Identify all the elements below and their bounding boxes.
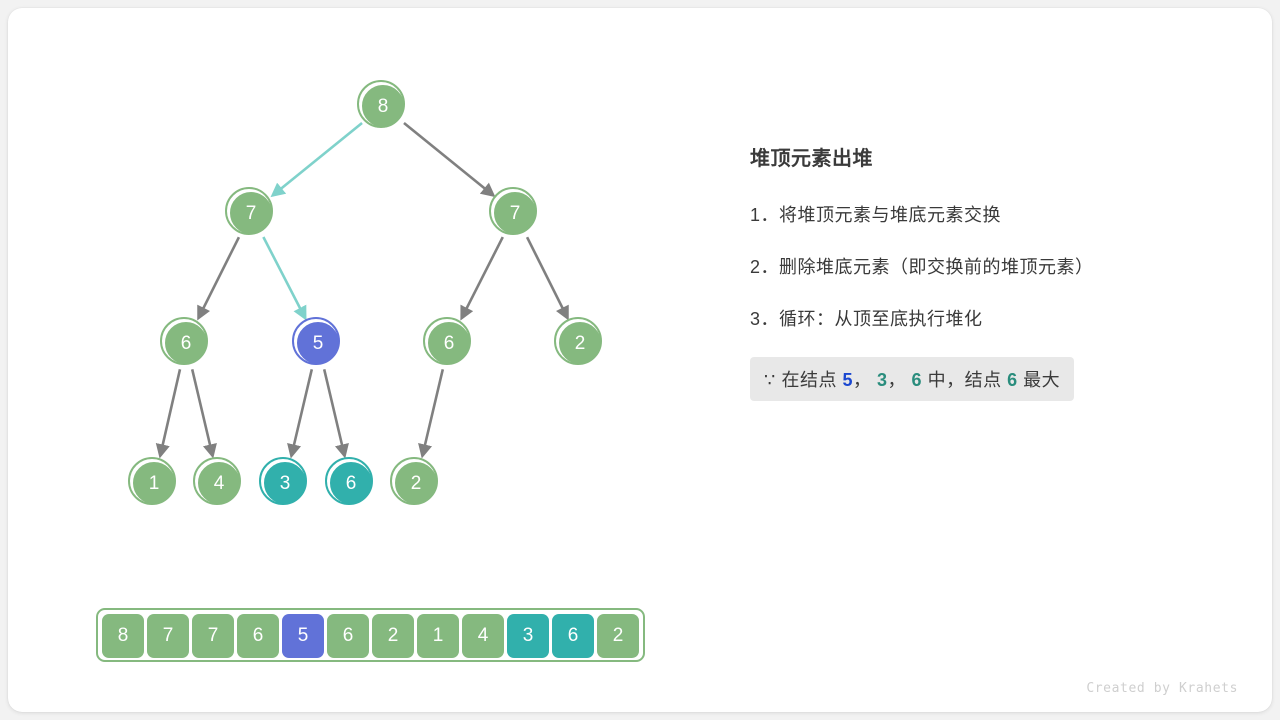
diagram-card: 877656214362 877656214362 堆顶元素出堆 1．将堆顶元素… bbox=[8, 8, 1272, 712]
tree-node-value: 8 bbox=[378, 97, 389, 116]
note-sep-1: ， bbox=[853, 370, 872, 390]
array-cell: 6 bbox=[237, 614, 279, 658]
tree-edge bbox=[263, 237, 305, 318]
page-title: 堆顶元素出堆 bbox=[750, 142, 1220, 171]
note-value-1: 5 bbox=[842, 370, 853, 390]
array-cell: 2 bbox=[372, 614, 414, 658]
array-cell: 6 bbox=[552, 614, 594, 658]
note-value-4: 6 bbox=[1007, 370, 1018, 390]
tree-edge bbox=[422, 369, 442, 455]
note-sep-2: ， bbox=[888, 370, 907, 390]
tree-node-value: 6 bbox=[181, 334, 192, 353]
note-value-2: 3 bbox=[877, 370, 888, 390]
explanation-panel: 堆顶元素出堆 1．将堆顶元素与堆底元素交换 2．删除堆底元素（即交换前的堆顶元素… bbox=[750, 142, 1220, 401]
tree-edge bbox=[291, 369, 311, 455]
array-cell: 7 bbox=[192, 614, 234, 658]
array-cell: 7 bbox=[147, 614, 189, 658]
tree-edge bbox=[404, 123, 493, 195]
note-middle: 中，结点 bbox=[928, 370, 1002, 390]
tree-edge bbox=[324, 369, 344, 455]
tree-node-value: 4 bbox=[214, 474, 225, 493]
array-cell: 1 bbox=[417, 614, 459, 658]
tree-edge bbox=[273, 123, 362, 195]
tree-edge bbox=[199, 237, 239, 318]
tree-node-value: 7 bbox=[510, 204, 521, 223]
note-value-3: 6 bbox=[912, 370, 923, 390]
tree-node-value: 7 bbox=[246, 204, 257, 223]
tree-node: 2 bbox=[393, 460, 439, 506]
tree-node: 5 bbox=[295, 320, 341, 366]
step-item-3: 3．循环：从顶至底执行堆化 bbox=[750, 305, 1220, 331]
tree-node-value: 5 bbox=[313, 334, 324, 353]
tree-edge bbox=[160, 369, 180, 455]
tree-edge bbox=[527, 237, 567, 318]
tree-node: 1 bbox=[131, 460, 177, 506]
tree-node: 4 bbox=[196, 460, 242, 506]
tree-node-value: 3 bbox=[280, 474, 291, 493]
step-item-1: 1．将堆顶元素与堆底元素交换 bbox=[750, 201, 1220, 227]
tree-node: 6 bbox=[328, 460, 374, 506]
tree-node-value: 2 bbox=[575, 334, 586, 353]
tree-edge bbox=[192, 369, 212, 455]
binary-heap-tree: 877656214362 bbox=[8, 8, 708, 568]
array-cell: 2 bbox=[597, 614, 639, 658]
because-symbol: ∵ bbox=[764, 370, 776, 390]
array-cell: 6 bbox=[327, 614, 369, 658]
tree-node: 7 bbox=[228, 190, 274, 236]
step-item-2: 2．删除堆底元素（即交换前的堆顶元素） bbox=[750, 253, 1220, 279]
credit-text: Created by Krahets bbox=[1086, 681, 1238, 696]
tree-node: 6 bbox=[163, 320, 209, 366]
tree-node-value: 6 bbox=[346, 474, 357, 493]
array-cell: 5 bbox=[282, 614, 324, 658]
array-cell: 3 bbox=[507, 614, 549, 658]
tree-node: 7 bbox=[492, 190, 538, 236]
tree-edge bbox=[462, 237, 503, 318]
array-cell: 4 bbox=[462, 614, 504, 658]
heap-array: 877656214362 bbox=[96, 608, 645, 662]
tree-node-value: 1 bbox=[149, 474, 160, 493]
tree-node: 8 bbox=[360, 83, 406, 129]
tree-node-value: 6 bbox=[444, 334, 455, 353]
tree-node: 2 bbox=[557, 320, 603, 366]
tree-node: 3 bbox=[262, 460, 308, 506]
tree-node: 6 bbox=[426, 320, 472, 366]
note-prefix: 在结点 bbox=[781, 370, 837, 390]
note-suffix: 最大 bbox=[1023, 370, 1060, 390]
array-cell: 8 bbox=[102, 614, 144, 658]
tree-node-value: 2 bbox=[411, 474, 422, 493]
conclusion-note: ∵ 在结点 5， 3， 6 中，结点 6 最大 bbox=[750, 357, 1074, 401]
